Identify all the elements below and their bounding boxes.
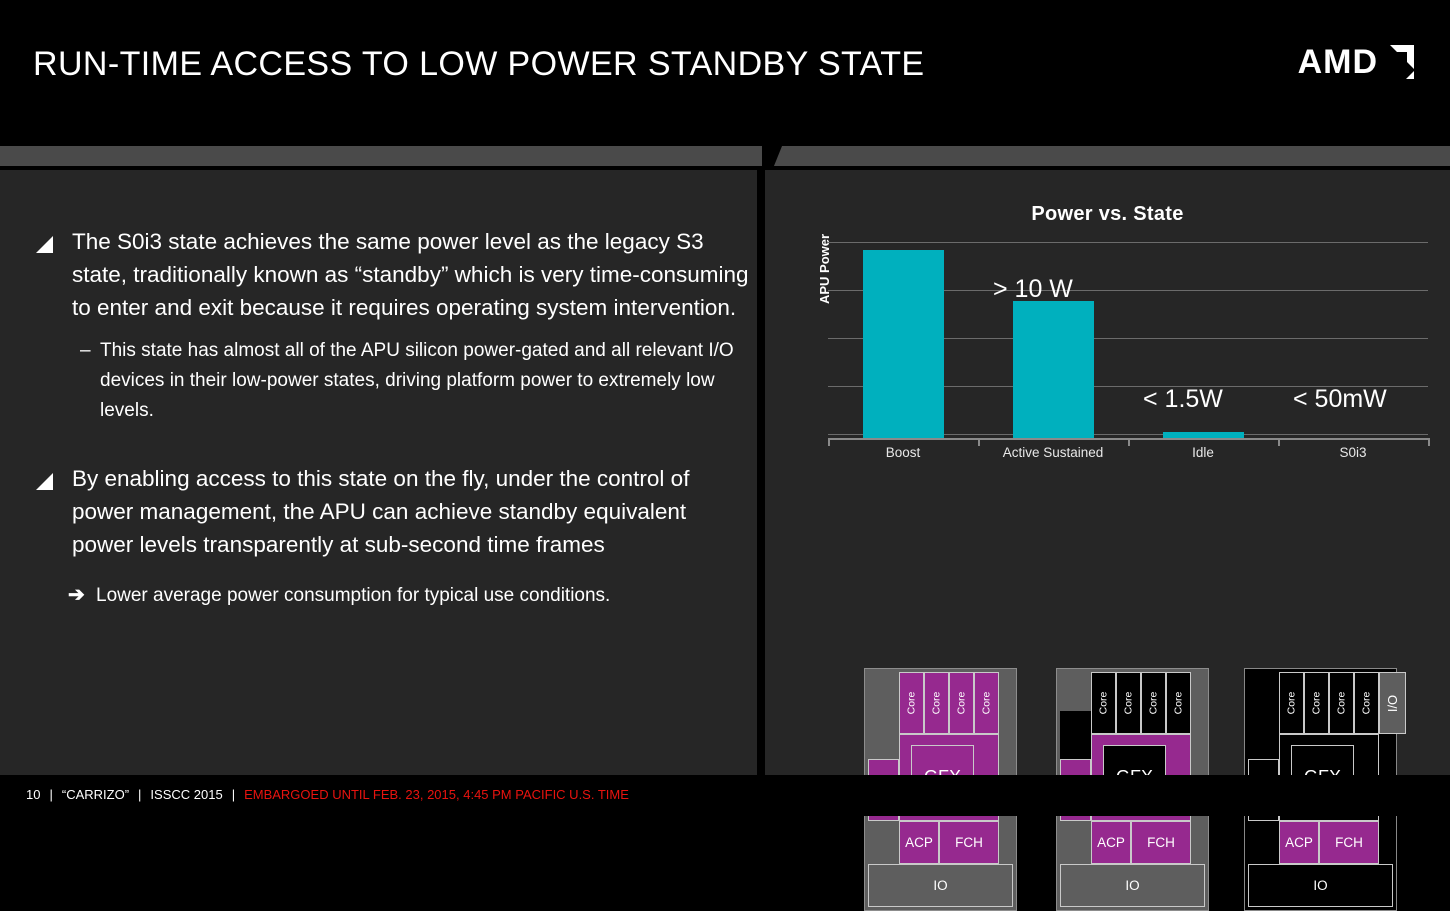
chart-bar [1013,301,1094,438]
amd-arrow-mark-icon [1380,45,1414,79]
die-block-label: Core [905,692,917,715]
die-block-label: Core [930,692,942,715]
chart-category-label: Active Sustained [978,445,1128,460]
die-block-label: FCH [1147,835,1175,850]
die-block-label: Core [1335,692,1347,715]
die-block-label: Core [1147,692,1159,715]
die-block-core4: Core [1166,672,1191,734]
footer-page-number: 10 [26,787,40,802]
die-block-acp: ACP [1279,821,1319,864]
bullet-item-2-text: By enabling access to this state on the … [72,462,749,561]
die-block-fch: FCH [1319,821,1379,864]
chart-axis-tick [978,438,980,446]
die-block-core3: Core [1141,672,1166,734]
die-block-acp: ACP [899,821,939,864]
chart-axis-tick [828,438,830,446]
die-block-label: IO [933,878,947,893]
die-block-core3: Core [1329,672,1354,734]
chart-axis-tick [1278,438,1280,446]
chart-axis-tick [1128,438,1130,446]
die-block-fch: FCH [1131,821,1191,864]
footer-separator: | [232,787,235,802]
chart-gridline [828,242,1428,243]
die-block-io: IO [868,864,1013,907]
die-block-label: Core [1097,692,1109,715]
sub-bullet-item-1-text: This state has almost all of the APU sil… [100,336,748,426]
amd-wordmark: AMD [1298,45,1378,79]
sub-bullet-item-2: ➔ Lower average power consumption for ty… [68,581,758,610]
die-block-label: Core [1360,692,1372,715]
die-block-corner [868,672,899,711]
footer-text: 10 | “CARRIZO” | ISSCC 2015 | EMBARGOED … [26,787,629,802]
die-block-side [1060,711,1091,759]
die-block-label: ACP [1097,835,1125,850]
chart-bar [863,250,944,438]
die-block-core4: Core [1354,672,1379,734]
die-block-label: Core [1122,692,1134,715]
triangle-bullet-icon [34,234,56,256]
power-vs-state-chart: Power vs. State APU Power BoostActive Su… [765,170,1450,490]
chart-category-label: Idle [1128,445,1278,460]
die-block-label: Core [1172,692,1184,715]
die-block-core2: Core [924,672,949,734]
footer-embargo-notice: EMBARGOED UNTIL FEB. 23, 2015, 4:45 PM P… [244,787,629,802]
chart-annotation: < 1.5W [1143,385,1223,414]
die-block-label: IO [1313,878,1327,893]
die-block-core1: Core [899,672,924,734]
die-block-core2: Core [1116,672,1141,734]
die-block-side [1248,711,1279,759]
bullet-item-2: By enabling access to this state on the … [34,462,749,561]
bullet-item-1-text: The S0i3 state achieves the same power l… [72,225,749,324]
die-io-tab: I/O [1379,672,1406,734]
die-block-label: Core [980,692,992,715]
chart-category-label: Boost [828,445,978,460]
die-block-core2: Core [1304,672,1329,734]
slide-header: RUN-TIME ACCESS TO LOW POWER STANDBY STA… [0,0,1450,146]
chart-axis-tick [1428,438,1430,446]
chart-annotation: > 10 W [993,275,1073,304]
footer-conference: ISSCC 2015 [150,787,222,802]
figure-panel: Power vs. State APU Power BoostActive Su… [765,170,1450,775]
die-block-label: Core [1310,692,1322,715]
die-block-label: ACP [905,835,933,850]
footer-separator: | [138,787,141,802]
die-block-core3: Core [949,672,974,734]
text-panel: The S0i3 state achieves the same power l… [0,170,757,775]
die-io-tab-label: I/O [1385,694,1400,711]
die-block-fch: FCH [939,821,999,864]
page-title: RUN-TIME ACCESS TO LOW POWER STANDBY STA… [33,45,924,84]
die-block-acp: ACP [1091,821,1131,864]
die-block-label: Core [1285,692,1297,715]
chart-category-label: S0i3 [1278,445,1428,460]
sub-bullet-item-1: – This state has almost all of the APU s… [80,336,748,426]
triangle-bullet-icon [34,471,56,493]
arrow-bullet-icon: ➔ [68,581,96,610]
panel-divider [757,170,765,775]
die-block-corner [1248,672,1279,711]
bullet-list: The S0i3 state achieves the same power l… [34,225,749,610]
slide-footer: 10 | “CARRIZO” | ISSCC 2015 | EMBARGOED … [0,775,1450,816]
die-block-core4: Core [974,672,999,734]
die-block-io: IO [1060,864,1205,907]
die-block-core1: Core [1091,672,1116,734]
die-block-side [868,711,899,759]
die-block-label: Core [955,692,967,715]
header-divider-notch [762,146,790,166]
die-block-label: FCH [955,835,983,850]
die-block-label: IO [1125,878,1139,893]
die-block-label: FCH [1335,835,1363,850]
bullet-item-1: The S0i3 state achieves the same power l… [34,225,749,324]
header-divider-bar [0,146,1450,166]
die-block-core1: Core [1279,672,1304,734]
dash-bullet-icon: – [80,336,100,426]
footer-codename: “CARRIZO” [62,787,129,802]
die-block-label: ACP [1285,835,1313,850]
die-block-io: IO [1248,864,1393,907]
sub-bullet-item-2-text: Lower average power consumption for typi… [96,581,610,610]
footer-separator: | [49,787,52,802]
die-block-corner [1060,672,1091,711]
chart-annotation: < 50mW [1293,385,1387,414]
amd-logo: AMD [1298,45,1414,79]
chart-title: Power vs. State [765,203,1450,226]
